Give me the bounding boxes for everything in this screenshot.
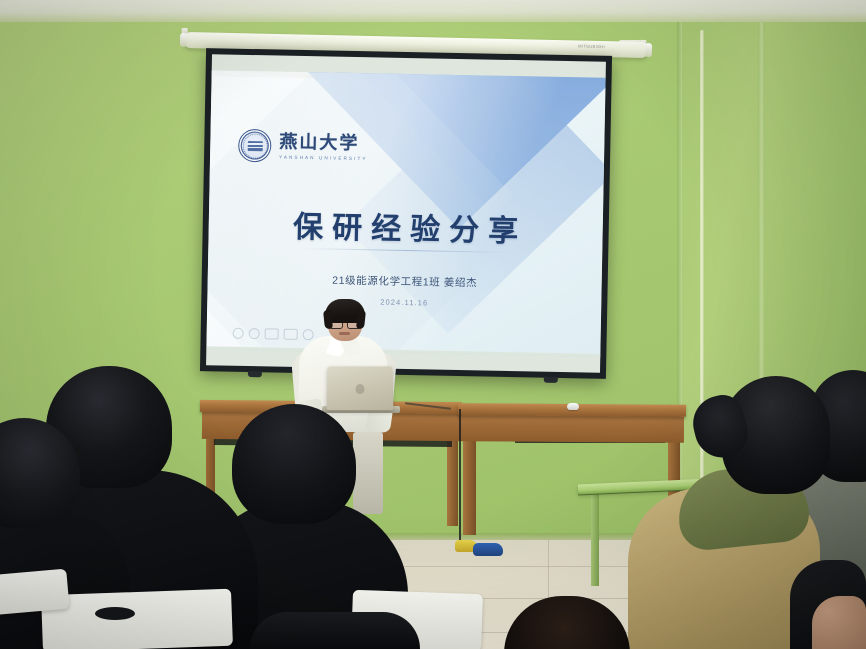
slides-icon[interactable] (265, 328, 279, 339)
computer-mouse[interactable] (567, 403, 579, 410)
chair-tablet-left-hole (95, 607, 135, 620)
ceiling (0, 0, 866, 22)
more-icon[interactable] (303, 329, 314, 340)
chair-tablet-left (41, 589, 233, 649)
yanshan-university-seal-icon (238, 129, 272, 163)
university-name-cn: 燕山大学 (279, 133, 368, 153)
slideshow-toolbar[interactable] (233, 328, 314, 341)
university-name-block: 燕山大学 YANSHAN UNIVERSITY (279, 133, 368, 161)
pointer-icon[interactable] (249, 328, 260, 339)
presenter-mouth (339, 332, 350, 335)
classroom-scene: MITSUBISHI 燕山大学 YANSHAN UNIVERSITY 保研经 (0, 0, 866, 649)
pen-icon[interactable] (233, 328, 244, 339)
desk-cable-vertical (459, 409, 461, 547)
presentation-slide: 燕山大学 YANSHAN UNIVERSITY 保研经验分享 21级能源化学工程… (206, 70, 605, 358)
slide-bottom-glow (206, 346, 600, 358)
audience-center-left-head (232, 404, 356, 524)
blue-bag (473, 543, 503, 556)
projector-screen[interactable]: 燕山大学 YANSHAN UNIVERSITY 保研经验分享 21级能源化学工程… (200, 48, 612, 379)
zoom-icon[interactable] (284, 329, 298, 340)
laptop-logo-icon (355, 384, 364, 394)
university-branding: 燕山大学 YANSHAN UNIVERSITY (238, 129, 368, 164)
student-desk-right-leg (591, 489, 599, 586)
screen-tab-left (248, 371, 262, 377)
audience-bottom-center-body (250, 612, 420, 649)
university-name-en: YANSHAN UNIVERSITY (279, 154, 368, 161)
chair-tablet-far-left (0, 569, 70, 616)
mitsubishi-logo: MITSUBISHI (578, 44, 605, 50)
side-desk-front-panel (460, 414, 684, 443)
slide-title: 保研经验分享 (208, 200, 603, 252)
presenter-trousers (353, 432, 383, 514)
laptop[interactable] (327, 366, 394, 410)
projector-screen-surface: 燕山大学 YANSHAN UNIVERSITY 保研经验分享 21级能源化学工程… (206, 54, 606, 373)
audience-bottom-right-arm (812, 596, 866, 649)
screen-tab-right (544, 377, 558, 383)
